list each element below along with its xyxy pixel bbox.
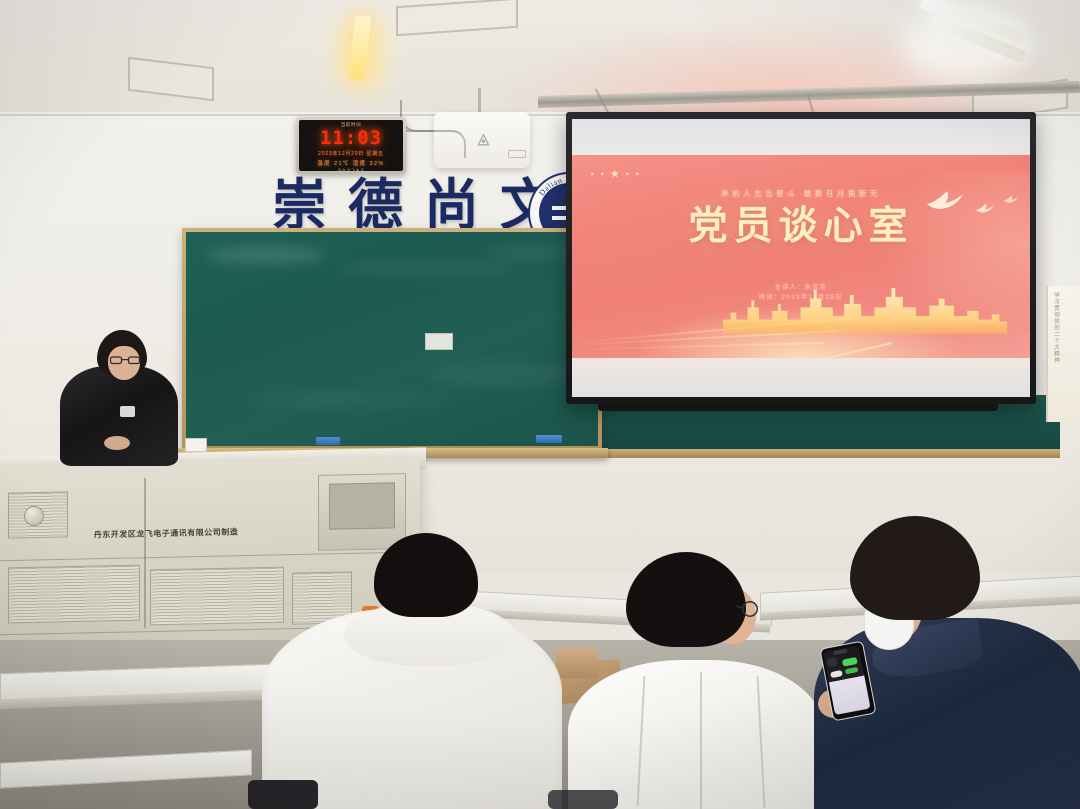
chalkboard-surface (186, 232, 598, 446)
wall-calligraphy: 崇 德 尚 文 (272, 176, 555, 234)
student-chair[interactable] (548, 790, 618, 809)
student2-body-puffer (568, 660, 824, 809)
clock-date: 2023年12月29日 星期五 (299, 150, 403, 157)
monitor-screen (329, 482, 395, 529)
slide-stars (590, 169, 639, 178)
led-wall-clock: 当前时间 11:03 2023年12月29日 星期五 温度 21℃ 湿度 32%… (296, 117, 406, 174)
ac-vent (508, 150, 526, 158)
calligraphy-char-2: 德 (348, 176, 403, 234)
slide-subtitle: 承前人志当登斗 敢教日月换新天 (572, 188, 1030, 199)
clock-brand: 丹东龙飞电子 (299, 168, 403, 171)
teacher-jacket-badge (120, 406, 135, 417)
glasses-icon (110, 356, 140, 365)
wall-poster-right: 学习贯彻党的二十大精神 (1046, 286, 1080, 422)
green-chalkboard (182, 228, 602, 450)
star-icon (600, 172, 604, 176)
clock-environment: 温度 21℃ 湿度 32% (299, 159, 403, 167)
star-icon (590, 172, 594, 176)
clock-time: 11:03 (299, 129, 403, 148)
chalk-eraser[interactable] (536, 435, 562, 443)
ac-brand-icon (476, 134, 491, 147)
slide-bottom-band (572, 358, 1030, 397)
podium-knob[interactable] (24, 506, 44, 526)
chalk-eraser[interactable] (316, 437, 340, 445)
chalkboard-right-trim (600, 449, 1060, 458)
star-icon (610, 169, 619, 178)
chalk-holder (425, 333, 453, 350)
student-chair[interactable] (248, 780, 318, 809)
classroom-photo: 当前时间 11:03 2023年12月29日 星期五 温度 21℃ 湿度 32%… (0, 0, 1080, 809)
slide-title: 党员谈心室 (572, 204, 1030, 248)
screen-mount-arm (598, 404, 998, 411)
podium-vent (150, 567, 284, 626)
poster-text: 学习贯彻党的二十大精神 (1051, 292, 1060, 364)
clock-display: 当前时间 11:03 2023年12月29日 星期五 温度 21℃ 湿度 32%… (299, 120, 403, 171)
podium-seam (144, 478, 146, 628)
glasses-icon (726, 600, 760, 617)
clock-wire (404, 130, 466, 158)
chalk-box (185, 438, 207, 452)
presentation-slide: 承前人志当登斗 敢教日月换新天 党员谈心室 主讲人：朱沈芙 时间：2023年12… (572, 155, 1030, 358)
phone-screen[interactable] (823, 645, 871, 715)
city-skyline-graphic (723, 281, 1007, 334)
star-icon (635, 172, 639, 176)
calligraphy-char-3: 尚 (424, 176, 479, 234)
teacher-body (60, 366, 178, 466)
puffer-seam (700, 672, 702, 809)
slide-top-band (572, 119, 1030, 155)
teacher-hand (104, 436, 130, 450)
podium-vent (8, 565, 140, 624)
display-screen: 承前人志当登斗 敢教日月换新天 党员谈心室 主讲人：朱沈芙 时间：2023年12… (572, 119, 1030, 397)
calligraphy-char-1: 崇 (272, 176, 327, 234)
projection-display: 承前人志当登斗 敢教日月换新天 党员谈心室 主讲人：朱沈芙 时间：2023年12… (566, 112, 1036, 404)
cup-holder[interactable] (556, 648, 598, 678)
ac-mount-stem (478, 88, 481, 114)
star-icon (625, 172, 629, 176)
podium-control-monitor[interactable] (318, 473, 406, 551)
